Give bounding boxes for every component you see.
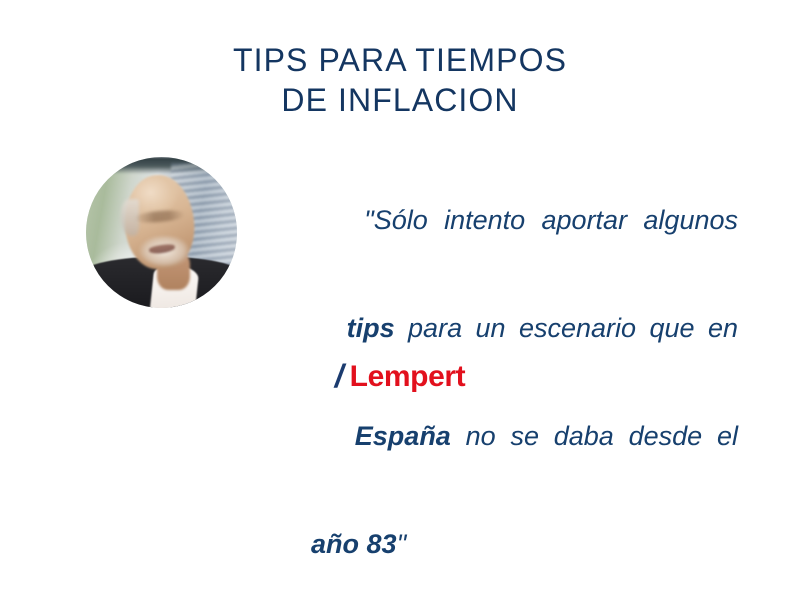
quote-segment: ": [397, 529, 407, 559]
avatar: [86, 157, 237, 308]
portrait-beard: [137, 236, 191, 272]
quote-segment-emphasis: año 83: [311, 529, 397, 559]
quote-segment: para un escenario que en: [395, 313, 738, 343]
quote-line: "Sólo intento aportar algunos: [266, 166, 738, 274]
logo-wordmark: Lempert: [350, 360, 466, 394]
quote-segment: no se daba desde el: [451, 421, 738, 451]
brand-logo: /Lempert: [0, 358, 800, 394]
slide-canvas: TIPS PARA TIEMPOS DE INFLACION "Sólo int…: [0, 0, 800, 450]
page-title: TIPS PARA TIEMPOS DE INFLACION: [0, 40, 800, 120]
quote-segment-emphasis: España: [355, 421, 451, 451]
quote-segment: "Sólo intento aportar algunos: [364, 205, 738, 235]
title-line-1: TIPS PARA TIEMPOS: [0, 40, 800, 80]
quote-line: España no se daba desde el: [266, 382, 738, 490]
logo-slash-icon: /: [335, 359, 344, 393]
portrait-photo: [86, 157, 237, 308]
title-line-2: DE INFLACION: [0, 80, 800, 120]
quote-line: año 83": [266, 490, 738, 598]
quote-segment-emphasis: tips: [347, 313, 395, 343]
